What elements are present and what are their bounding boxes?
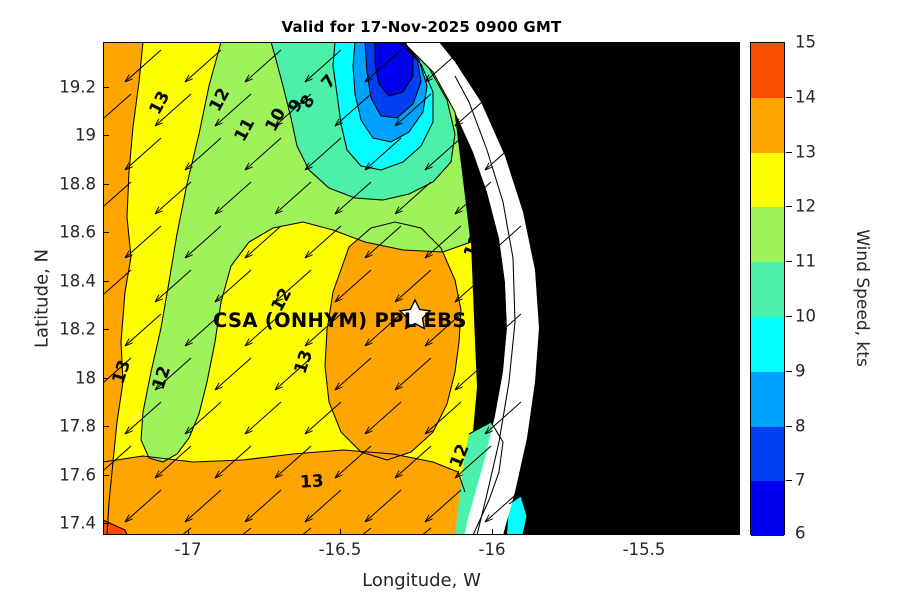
colorbar-tick-label: 12 <box>795 197 816 216</box>
wind-speed-map-figure: Valid for 17-Nov-2025 0900 GMT <box>0 0 900 600</box>
y-tick-label: 19 <box>0 126 96 145</box>
colorbar-title: Wind Speed, kts <box>852 148 872 448</box>
colorbar-band-8-9 <box>751 372 784 427</box>
colorbar-tick-label: 6 <box>795 524 806 543</box>
x-tick-label: -15.5 <box>623 540 666 559</box>
colorbar-band-13-14 <box>751 98 784 153</box>
x-tick-label: -16 <box>479 540 506 559</box>
colorbar-tick-label: 11 <box>795 252 816 271</box>
colorbar-tick-label: 9 <box>795 361 806 380</box>
contour-label: 13 <box>299 471 324 492</box>
x-tick-label: -17 <box>175 540 202 559</box>
colorbar-band-10-11 <box>751 262 784 317</box>
y-tick-label: 19.2 <box>0 78 96 97</box>
colorbar-band-7-8 <box>751 427 784 482</box>
x-tick-label: -16.5 <box>319 540 362 559</box>
colorbar-band-14-15 <box>751 43 784 98</box>
map-plot-area[interactable]: 13 12 11 10 9 8 7 12 12 13 12 13 13 12 C… <box>103 42 740 535</box>
colorbar-band-6-7 <box>751 481 784 536</box>
colorbar-band-11-12 <box>751 207 784 262</box>
colorbar-band-9-10 <box>751 317 784 372</box>
colorbar-tick-label: 7 <box>795 471 806 490</box>
colorbar-tick-label: 15 <box>795 33 816 52</box>
colorbar-tick-label: 8 <box>795 416 806 435</box>
colorbar[interactable] <box>750 42 785 535</box>
contour-map-svg <box>103 42 740 535</box>
y-tick-label: 17.4 <box>0 514 96 533</box>
x-axis-title: Longitude, W <box>103 570 740 591</box>
y-axis-title: Latitude, N <box>32 179 53 419</box>
site-label: CSA (ONHYM) PPL EBS - <box>213 309 482 332</box>
colorbar-band-12-13 <box>751 153 784 208</box>
y-tick-label: 17.6 <box>0 466 96 485</box>
y-tick-label: 17.8 <box>0 417 96 436</box>
colorbar-tick-label: 14 <box>795 87 816 106</box>
colorbar-tick-label: 10 <box>795 307 816 326</box>
figure-title: Valid for 17-Nov-2025 0900 GMT <box>103 18 740 36</box>
colorbar-tick-label: 13 <box>795 142 816 161</box>
